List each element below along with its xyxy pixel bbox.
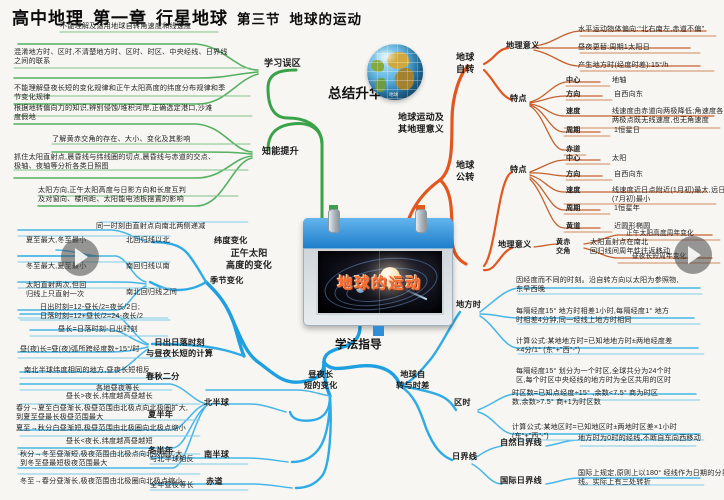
leaf-obliquity-tail-0: 正午太阳高度周年变化	[626, 230, 694, 238]
node-international-date-line[interactable]: 国际日界线	[500, 476, 542, 486]
node-earth-rotation[interactable]: 地球 自转	[456, 52, 474, 75]
node-local-time[interactable]: 地方时	[456, 300, 481, 310]
node-rotation-significance[interactable]: 地理意义	[506, 41, 540, 51]
key-rotation-speed: 速度	[566, 107, 581, 116]
leaf-orange-rot-sig-2: 产生地方时(经度时差):15°/h	[578, 61, 669, 70]
globe-caption: 地球	[389, 92, 398, 98]
leaf-natural-dateline-0: 地方时为0时的经线,不断自东向西移动	[578, 434, 701, 443]
node-equator[interactable]: 赤道	[206, 477, 223, 487]
leaf-sunrise-3: 南北半球纬度相同的地方,昼夜长短相反	[24, 366, 150, 375]
node-rotation-features[interactable]: 特点	[510, 94, 527, 104]
node-revolution-features[interactable]: 特点	[510, 165, 527, 175]
leaf-equator-0: 全年昼夜等长	[150, 481, 194, 490]
val-rotation-direction: 自西向东	[614, 90, 643, 99]
leaf-green-1-1: 了解黄赤交角的存在、大小、变化及其影响	[52, 135, 191, 144]
node-noon-solar-altitude-change[interactable]: 正午太阳 高度的变化	[226, 248, 272, 271]
video-title: 地球的运动	[318, 272, 442, 293]
node-latitude-variation[interactable]: 纬度变化	[214, 236, 248, 246]
video-screen[interactable]: 地球的运动	[316, 249, 444, 315]
node-ability-improvement[interactable]: 知能提升	[262, 146, 299, 157]
node-rotation-time-difference[interactable]: 地球自 转与时差	[396, 370, 430, 391]
node-learning-misconceptions[interactable]: 学习误区	[264, 58, 301, 69]
mindmap-canvas: 高中地理第一章行星地球第三节地球的运动	[0, 0, 724, 500]
play-button-right[interactable]	[674, 236, 712, 274]
leaf-southern-0: 与北半球相反	[150, 455, 194, 464]
leaf-green-1-0: 根据地转偏向力的知识,辨别侵蚀/堆积河岸,正确选定港口,沙滩 度假地	[14, 104, 212, 121]
node-natural-date-line[interactable]: 自然日界线	[500, 438, 542, 448]
node-daylength-change[interactable]: 昼夜长 短的变化	[304, 370, 338, 391]
leaf-summer-2: 夏至→秋分白昼渐短,极昼范围由北极圈向北极点缩小	[16, 424, 186, 433]
node-seasonal-variation[interactable]: 季节变化	[210, 276, 244, 286]
node-study-guidance[interactable]: 学法指导	[335, 338, 382, 352]
key-revolution-direction: 方向	[566, 170, 581, 179]
leaf-sunrise-1: 昼长=日落时刻-日出时刻	[58, 325, 138, 334]
val-revolution-period: 1恒星年	[614, 204, 640, 213]
leaf-green-0-1: 混淆地方时、区时,不清楚地方时、区时、时区、中央经线、日界线 之间的联系	[14, 48, 228, 65]
leaf-localtime-0: 因经度而不同的时刻。沿自转方向以太阳为参照物, 东早西晚	[516, 276, 679, 293]
leaf-green-0-0: 不能理解及运用地球自转角速度和线速度	[60, 22, 191, 31]
leaf-sunrise-0: 日出时刻=12-昼长/2=夜长/2日; 日落时刻=12+昼长/2=24-夜长/2	[40, 303, 143, 320]
leaf-season-row-2-right: 南北回归线之间	[126, 288, 177, 297]
leaf-zonetime-1: 时区数=已知点经度÷15° ,余数<7.5° 商为时区 数,余数>7.5° 商+…	[512, 389, 658, 406]
node-zone-time[interactable]: 区时	[454, 398, 471, 408]
play-button-left[interactable]	[61, 238, 99, 276]
val-rotation-center: 地轴	[612, 76, 627, 85]
leaf-season-row-0-right: 北回归线以北	[126, 236, 170, 245]
key-revolution-center: 中心	[566, 154, 581, 163]
key-rotation-center: 中心	[566, 76, 581, 85]
leaf-intl-dateline-0: 国际上规定,原则上以180° 经线作为日期的分界 线。实际上有三处转折	[578, 469, 724, 486]
key-revolution-ecliptic: 黄道	[566, 222, 581, 231]
node-southern-hemisphere[interactable]: 南半球	[204, 450, 229, 460]
leaf-localtime-2: 计算公式:某地地方时=已知地地方时±两地经度差 ×4分/1° (东“+”西“-”…	[516, 337, 672, 354]
node-earth-motion-significance[interactable]: 地球运动及 其地理意义	[398, 111, 444, 135]
val-revolution-center: 太阳	[612, 154, 627, 163]
key-revolution-period: 周期	[566, 204, 581, 213]
val-revolution-speed: 线速度近日点附近(1月初)最大,远日点附近 (7月初)最小	[612, 186, 724, 203]
leaf-zonetime-0: 每隔经度15° 划分为一个时区,全球共分为24个时 区,每个时区中央经线的地方时…	[516, 367, 671, 384]
node-earth-revolution[interactable]: 地球 公转	[456, 160, 474, 183]
node-northern-hemisphere[interactable]: 北半球	[204, 398, 229, 408]
leaf-orange-rot-sig-1: 昼夜更替:周期1太阳日	[578, 43, 650, 52]
center-video-board[interactable]: 地球的运动	[303, 218, 453, 326]
leaf-winter-0: 昼长<夜长,纬度越高昼越短	[66, 437, 153, 446]
leaf-green-1-3: 太阳方向,正午太阳高度与日影方向和长度互判 及对窗向、楼间距、太阳能电池板摆置的…	[38, 186, 186, 203]
val-rotation-speed: 线速度由赤道向两极降低;角速度各处均15°/h; 两极点既无线速度,也无角速度	[612, 107, 724, 124]
node-date-line[interactable]: 日界线	[452, 452, 477, 462]
key-revolution-speed: 速度	[566, 186, 581, 195]
node-sunrise-sunset-calc[interactable]: 日出日落时刻 与昼夜长短的计算	[146, 338, 213, 359]
leaf-green-0-2: 不能理解昼夜长短的变化规律和正午太阳高度的纬度分布规律和季 节变化规律	[14, 84, 226, 101]
node-equinoxes[interactable]: 春秋二分	[146, 372, 180, 382]
leaf-season-row-2-left: 太阳直射两次,但回 归线上只直射一次	[26, 281, 87, 298]
node-revolution-significance[interactable]: 地理意义	[498, 240, 532, 250]
leaf-summer-0: 昼长>夜长,纬度越高昼越长	[66, 392, 153, 401]
leaf-sunrise-2: 昼(夜)长=昼(夜)弧所跨经度数÷15°/时	[20, 345, 140, 354]
val-revolution-direction: 自西向东	[614, 170, 643, 179]
key-obliquity: 黄赤 交角	[556, 238, 571, 256]
key-rotation-direction: 方向	[566, 90, 581, 99]
leaf-summer-1: 春分→夏至白昼渐长,极昼范围由北极点向北极圈扩大, 到夏至昼最长极昼范围最大	[16, 404, 188, 421]
leaf-localtime-1: 每隔经度15° 地方时相差1小时,每隔经度1° 地方 时相差4分钟,同一经线上地…	[516, 307, 669, 324]
key-rotation-equator: 赤道	[566, 145, 581, 154]
leaf-green-1-2: 抓住太阳直射点,晨昏线与纬线圈的切点,晨昏线与赤道的交点、 极轴、夜轴等分析各类…	[14, 153, 215, 170]
leaf-orange-rot-sig-0: 水平运动物体偏向:“北右南左,赤道不偏”	[578, 25, 704, 34]
leaf-season-row-1-right: 南回归线以南	[126, 262, 170, 271]
val-rotation-period: 1恒星日	[614, 126, 640, 135]
key-rotation-period: 周期	[566, 126, 581, 135]
leaf-latitude-variation-0: 同一时刻由直射点向南北两侧递减	[96, 222, 205, 231]
